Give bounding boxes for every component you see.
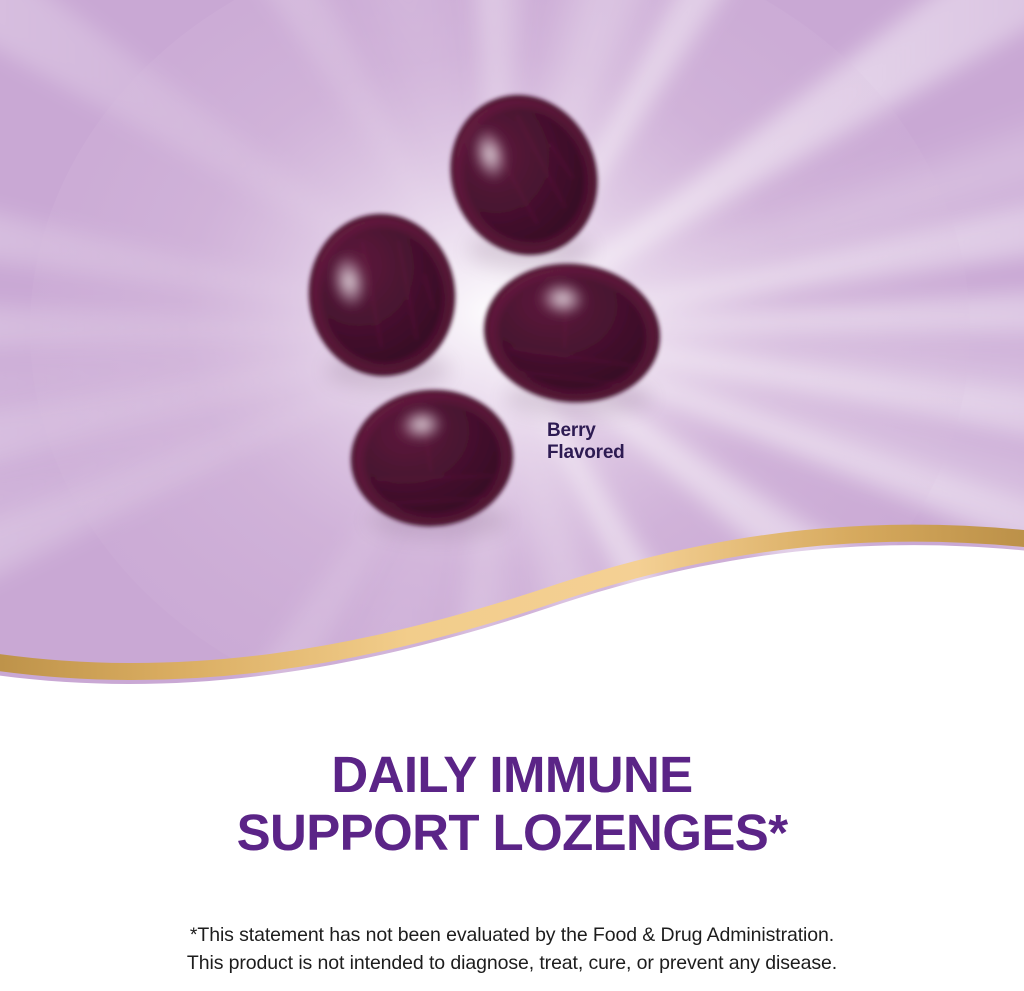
fda-disclaimer: *This statement has not been evaluated b… — [0, 922, 1024, 977]
product-hero-card: Berry Flavored DAILY IMMUNE SUPPORT LOZE… — [0, 0, 1024, 991]
page-title: DAILY IMMUNE SUPPORT LOZENGES* — [0, 746, 1024, 862]
sunburst-background — [0, 0, 1024, 690]
flavor-callout-label: Berry Flavored — [547, 420, 625, 464]
hero-image-area: Berry Flavored — [0, 0, 1024, 690]
info-panel: DAILY IMMUNE SUPPORT LOZENGES* *This sta… — [0, 690, 1024, 991]
